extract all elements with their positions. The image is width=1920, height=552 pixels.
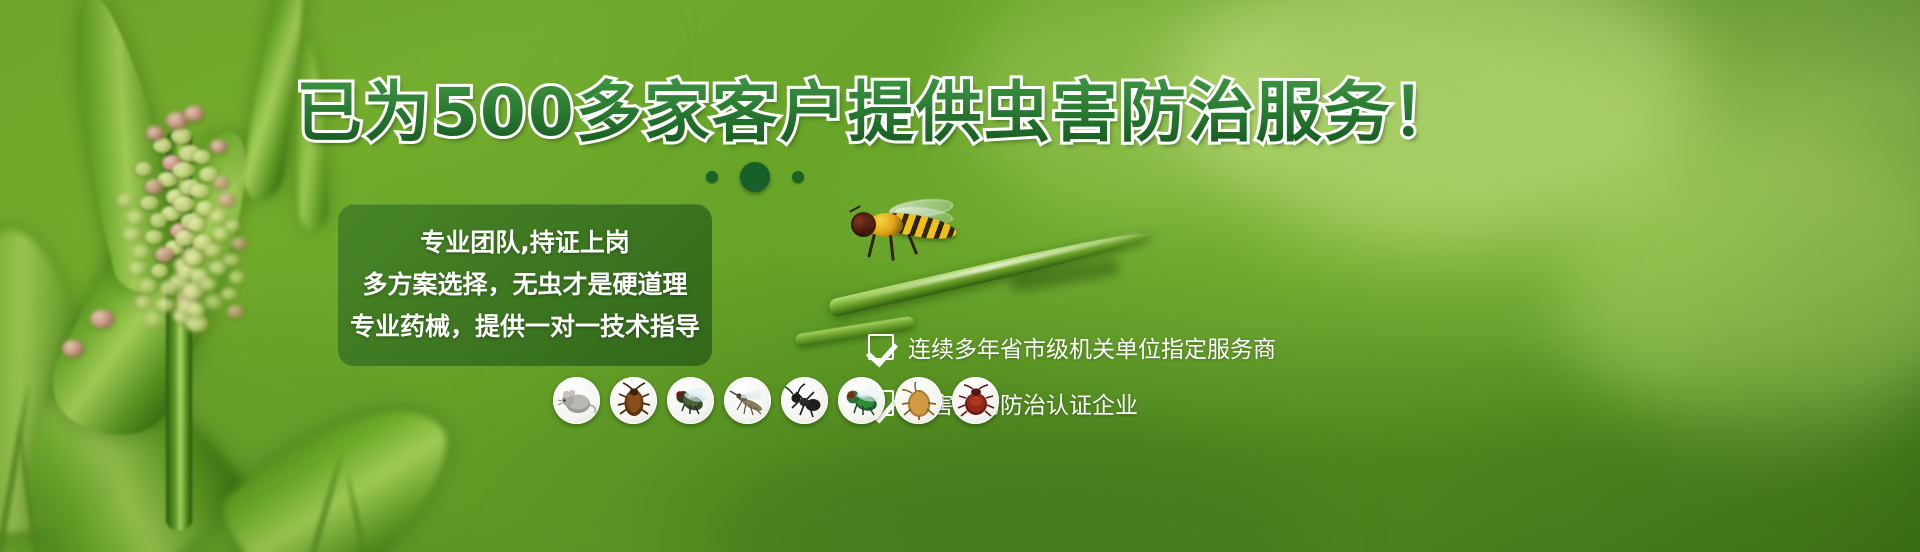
credential-label-1: 连续多年省市级机关单位指定服务商 [908,330,1276,364]
fly-icon[interactable]: 苍蝇 [667,377,714,424]
pest-control-hero-banner: 已为500多家客户提供虫害防治服务！ 已为500多家客户提供虫害防治服务！ 专业… [0,0,1920,552]
divider-dot-large-center [740,162,770,192]
pest-type-icon-row: 鼠 蟑螂 苍蝇 [553,377,999,424]
flea-icon[interactable]: 跳蚤 [895,377,942,424]
cockroach-icon[interactable]: 蟑螂 [610,377,657,424]
list-item: 连续多年省市级机关单位指定服务商 [868,330,1276,364]
selling-point-line-2: 多方案选择，无虫才是硬道理 [362,265,687,301]
selling-point-line-3: 专业药械，提供一对一技术指导 [350,307,700,343]
blowfly-icon[interactable]: 绿头蝇 [838,377,885,424]
selling-points-panel: 专业团队,持证上岗 多方案选择，无虫才是硬道理 专业药械，提供一对一技术指导 [338,204,712,366]
divider-dot-small-right [792,171,804,183]
ant-icon[interactable]: 蚂蚁 [781,377,828,424]
divider-dot-small-left [706,171,718,183]
bedbug-icon[interactable]: 臭虫 [952,377,999,424]
mouse-icon[interactable]: 鼠 [553,377,600,424]
page-headline: 已为500多家客户提供虫害防治服务！ [296,76,1496,150]
three-dot-divider [706,162,804,192]
checkbox-checked-icon [868,334,894,360]
mosquito-icon[interactable]: 蚊子 [724,377,771,424]
selling-point-line-1: 专业团队,持证上岗 [420,223,630,259]
